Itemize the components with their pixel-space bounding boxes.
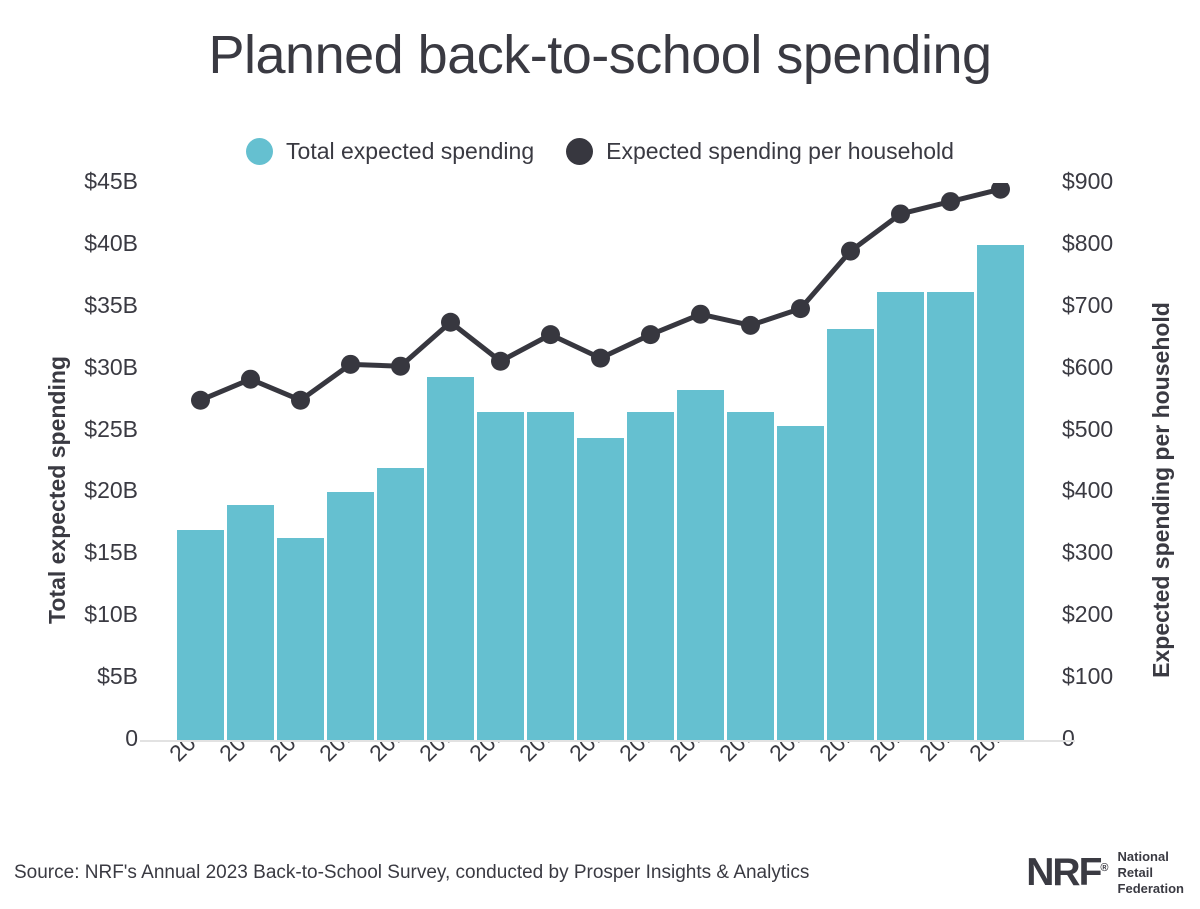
- right-axis-tick-2: $700: [1062, 292, 1113, 319]
- line-point-2016[interactable]: [641, 325, 660, 344]
- line-point-2018[interactable]: [741, 316, 760, 335]
- line-point-2012[interactable]: [441, 313, 460, 332]
- nrf-logo-wordmark: National Retail Federation: [1118, 849, 1184, 897]
- legend-swatch-teal-circle-icon: [246, 138, 273, 165]
- page-title: Planned back-to-school spending: [0, 24, 1200, 86]
- line-point-2013[interactable]: [491, 352, 510, 371]
- nrf-logo-line-2: Retail: [1118, 865, 1184, 881]
- plot-area: [150, 183, 1050, 740]
- left-axis-tick-4: $25B: [84, 416, 138, 443]
- left-axis-tick-8: $5B: [97, 663, 138, 690]
- line-point-2007[interactable]: [191, 391, 210, 410]
- right-axis-tick-9: 0: [1062, 725, 1075, 752]
- left-axis-tick-0: $45B: [84, 168, 138, 195]
- line-point-2017[interactable]: [691, 305, 710, 324]
- legend-item-total-expected-spending[interactable]: Total expected spending: [246, 138, 534, 165]
- right-axis-tick-4: $500: [1062, 416, 1113, 443]
- right-axis-tick-7: $200: [1062, 601, 1113, 628]
- left-axis-tick-3: $30B: [84, 354, 138, 381]
- right-axis-tick-1: $800: [1062, 230, 1113, 257]
- line-point-2014[interactable]: [541, 325, 560, 344]
- legend-swatch-dark-circle-icon: [566, 138, 593, 165]
- left-axis-tick-1: $40B: [84, 230, 138, 257]
- line-path-expected-spending-per-household: [201, 189, 1001, 400]
- line-point-2015[interactable]: [591, 349, 610, 368]
- line-point-2022[interactable]: [941, 192, 960, 211]
- right-axis-tick-8: $100: [1062, 663, 1113, 690]
- right-axis-tick-3: $600: [1062, 354, 1113, 381]
- line-point-2019[interactable]: [791, 299, 810, 318]
- legend-item-expected-spending-per-household[interactable]: Expected spending per household: [566, 138, 954, 165]
- line-point-2010[interactable]: [341, 355, 360, 374]
- left-axis-tick-7: $10B: [84, 601, 138, 628]
- registered-trademark-icon: ®: [1100, 862, 1108, 874]
- chart-legend: Total expected spending Expected spendin…: [0, 138, 1200, 165]
- left-axis-tick-2: $35B: [84, 292, 138, 319]
- left-axis-tick-9: 0: [125, 725, 138, 752]
- left-axis-tick-5: $20B: [84, 477, 138, 504]
- line-point-2008[interactable]: [241, 370, 260, 389]
- line-point-2009[interactable]: [291, 391, 310, 410]
- line-series-layer: [150, 183, 1050, 740]
- nrf-logo-mark: NRF®: [1026, 853, 1108, 892]
- right-axis-tick-0: $900: [1062, 168, 1113, 195]
- line-point-2021[interactable]: [891, 204, 910, 223]
- nrf-logo-line-3: Federation: [1118, 881, 1184, 897]
- right-axis-tick-6: $300: [1062, 539, 1113, 566]
- legend-label-total-expected-spending: Total expected spending: [286, 138, 534, 165]
- right-axis-tick-5: $400: [1062, 477, 1113, 504]
- axis-baseline: [140, 740, 1075, 742]
- line-point-2020[interactable]: [841, 242, 860, 261]
- left-axis-title: Total expected spending: [44, 290, 71, 690]
- left-axis-tick-6: $15B: [84, 539, 138, 566]
- right-axis-title: Expected spending per household: [1148, 260, 1175, 720]
- legend-label-expected-spending-per-household: Expected spending per household: [606, 138, 954, 165]
- line-point-2023[interactable]: [991, 183, 1010, 199]
- nrf-logo-line-1: National: [1118, 849, 1184, 865]
- line-point-2011[interactable]: [391, 357, 410, 376]
- nrf-logo: NRF® National Retail Federation: [1026, 849, 1184, 897]
- nrf-logo-mark-text: NRF: [1026, 851, 1100, 894]
- source-note: Source: NRF's Annual 2023 Back-to-School…: [14, 862, 809, 884]
